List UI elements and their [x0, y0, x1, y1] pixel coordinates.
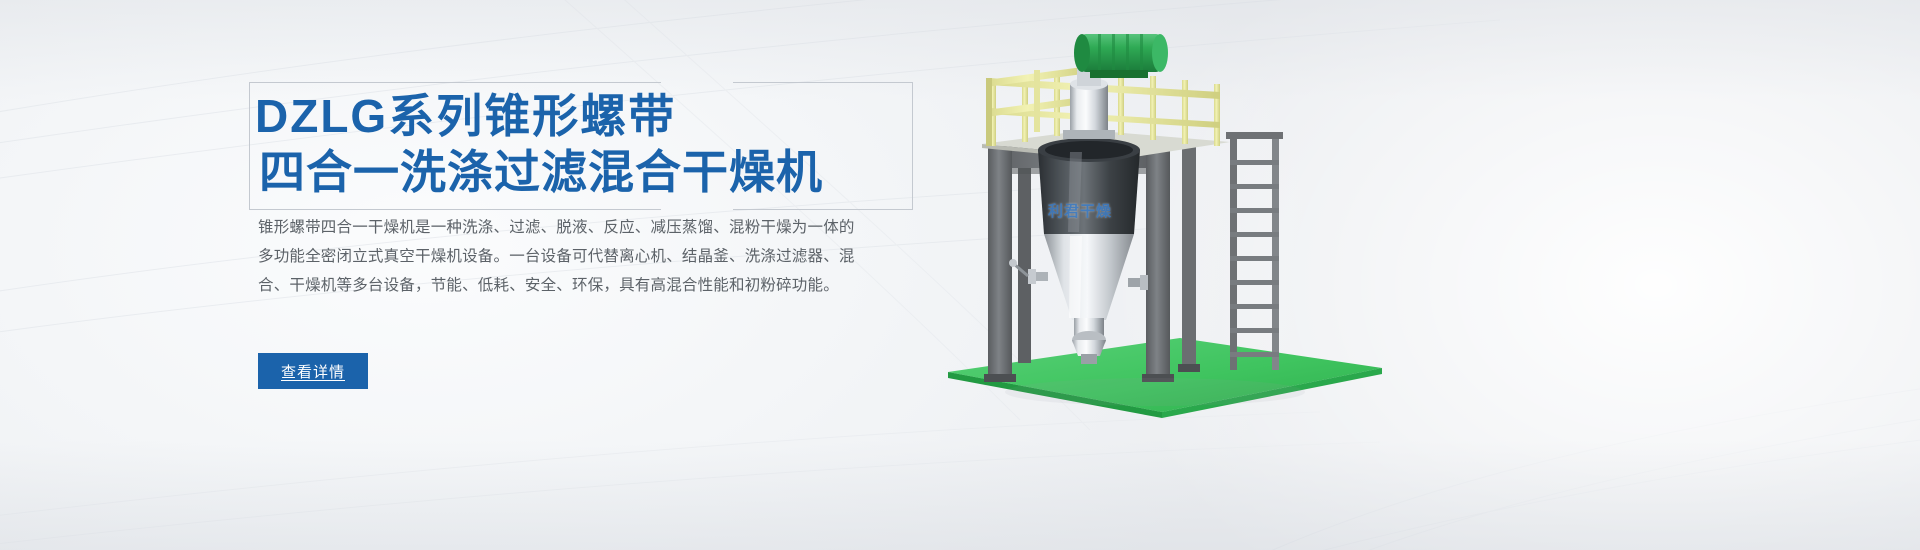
- product-image-conical-screw-dryer: 利君干燥: [930, 20, 1400, 440]
- support-leg-rear-right: [1178, 140, 1200, 372]
- support-leg-rear-left: [1018, 148, 1031, 363]
- description-line-2: 多功能全密闭立式真空干燥机设备。一台设备可代替离心机、结晶釜、洗涤过滤器、混: [258, 242, 858, 271]
- hero-banner: DZLG系列锥形螺带 四合一洗涤过滤混合干燥机 锥形螺带四合一干燥机是一种洗涤、…: [0, 0, 1920, 550]
- machine-illustration: [930, 20, 1400, 440]
- vessel-upper-body: [1038, 138, 1140, 234]
- view-details-button[interactable]: 查看详情: [258, 353, 368, 389]
- description-line-3: 合、干燥机等多台设备，节能、低耗、安全、环保，具有高混合性能和初粉碎功能。: [258, 271, 858, 300]
- access-ladder: [1226, 132, 1283, 370]
- description-line-1: 锥形螺带四合一干燥机是一种洗涤、过滤、脱液、反应、减压蒸馏、混粉干燥为一体的: [258, 213, 858, 242]
- hero-content: DZLG系列锥形螺带 四合一洗涤过滤混合干燥机 锥形螺带四合一干燥机是一种洗涤、…: [255, 88, 895, 200]
- title-line-1: DZLG系列锥形螺带: [255, 88, 895, 144]
- view-details-label: 查看详情: [281, 361, 345, 382]
- title-line-2: 四合一洗涤过滤混合干燥机: [255, 144, 895, 200]
- hero-description: 锥形螺带四合一干燥机是一种洗涤、过滤、脱液、反应、减压蒸馏、混粉干燥为一体的 多…: [258, 213, 858, 300]
- drive-motor: [1074, 34, 1168, 78]
- page-title: DZLG系列锥形螺带 四合一洗涤过滤混合干燥机: [255, 88, 895, 200]
